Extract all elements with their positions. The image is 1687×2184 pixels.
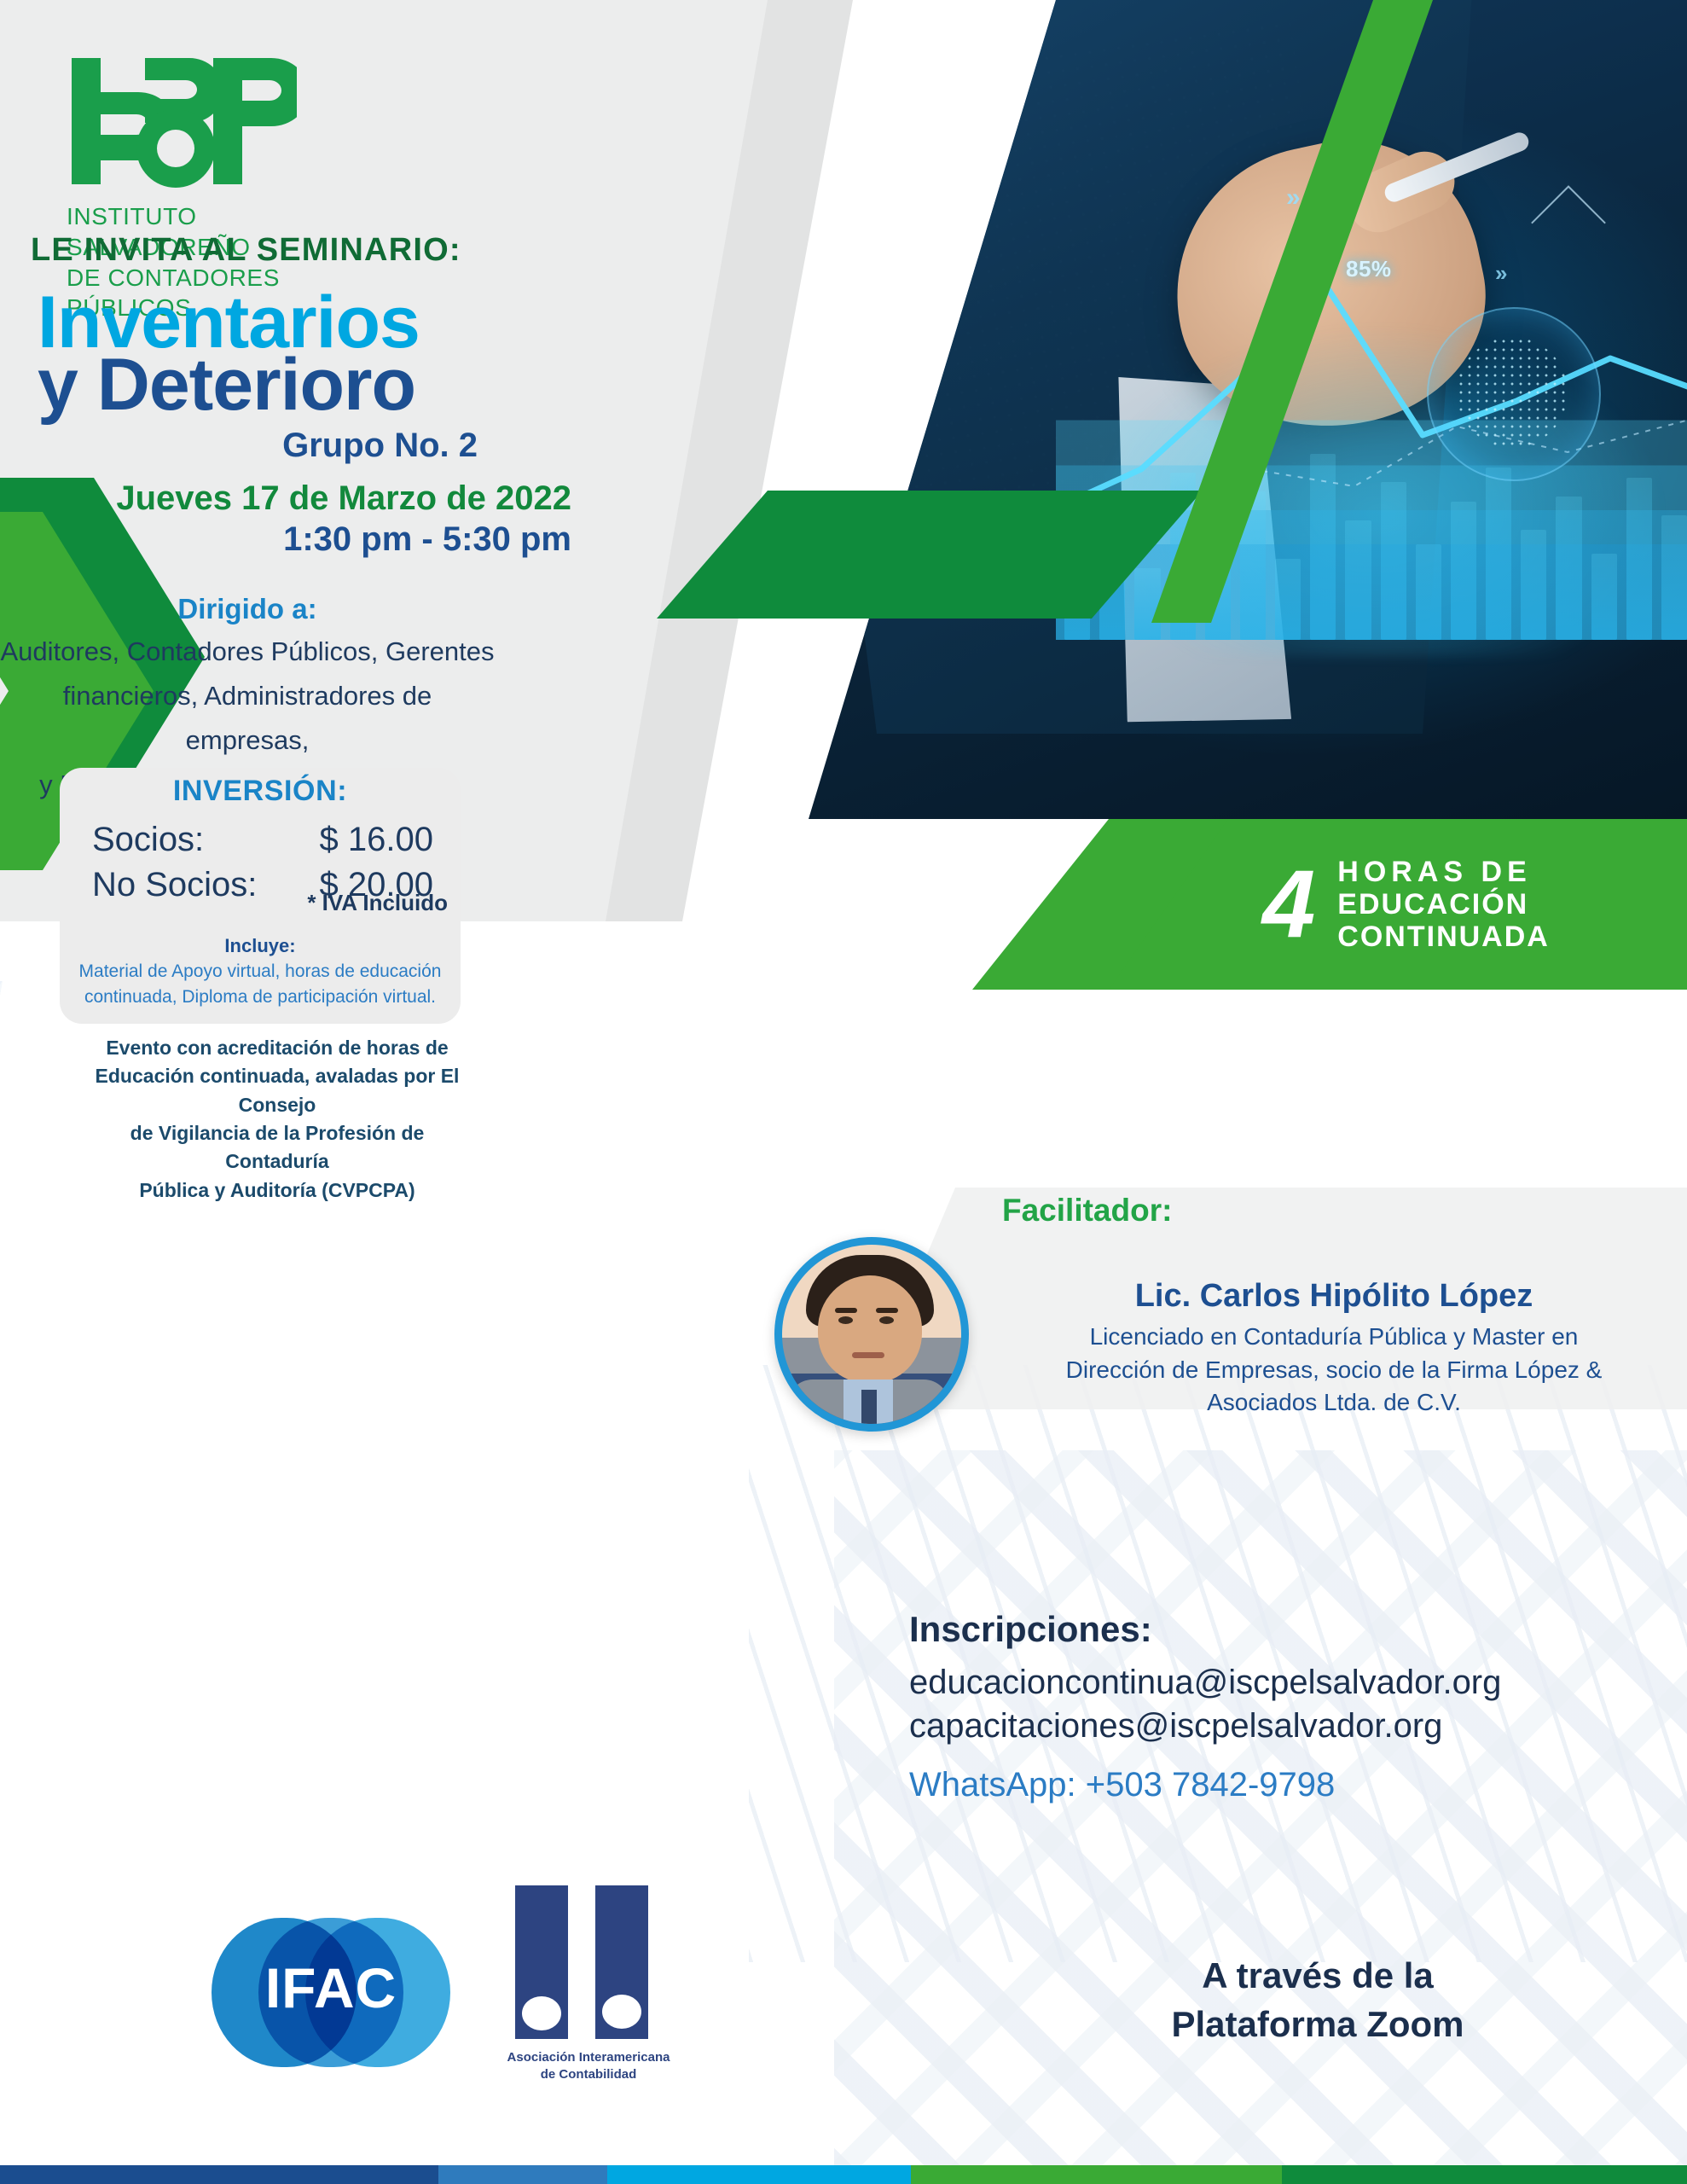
investment-tax-note: * IVA Incluido — [60, 890, 448, 916]
facilitator-bio: Licenciado en Contaduría Pública y Maste… — [981, 1321, 1687, 1420]
avatar-eyebrow-left — [835, 1308, 857, 1313]
audience-line-1: Auditores, Contadores Públicos, Gerentes — [0, 630, 495, 674]
aic-logo-icon: Asociación Interamericana de Contabilida… — [495, 1885, 682, 2133]
avatar-eye-left — [838, 1316, 853, 1324]
platform-line-1: A través de la — [981, 1952, 1655, 2001]
footer-bar-segment-1 — [0, 2165, 438, 2184]
accreditation-line-2: Educación continuada, avaladas por El Co… — [77, 1062, 478, 1119]
hours-number: 4 — [1262, 863, 1312, 944]
avatar-tie — [861, 1390, 877, 1432]
hours-label-line2: EDUCACIÓN — [1337, 888, 1550, 921]
iscp-logo-icon — [67, 53, 297, 189]
registration-whatsapp[interactable]: WhatsApp: +503 7842-9798 — [909, 1766, 1335, 1804]
event-time: 1:30 pm - 5:30 pm — [0, 520, 571, 559]
facilitator-bio-line2: Dirección de Empresas, socio de la Firma… — [981, 1354, 1687, 1387]
flyer-page: » » 85% 4 HORAS DE EDUCACIÓN CONTINUADA — [0, 0, 1687, 2184]
facilitator-bio-line3: Asociados Ltda. de C.V. — [981, 1386, 1687, 1420]
investment-includes-body: Material de Apoyo virtual, horas de educ… — [72, 959, 448, 1010]
footer-color-bar — [0, 2165, 1687, 2184]
hero-chevron-icon-2: » — [1495, 260, 1504, 287]
hero-arrow-icon — [1531, 185, 1606, 260]
avatar-face — [818, 1275, 922, 1383]
accreditation-line-1: Evento con acreditación de horas de — [77, 1034, 478, 1062]
seminar-title-line2: y Deterioro — [38, 348, 415, 421]
ifac-logo-text: IFAC — [212, 1955, 450, 2020]
investment-includes-line1: Material de Apoyo virtual, horas de educ… — [72, 959, 448, 985]
registration-heading: Inscripciones: — [909, 1609, 1152, 1650]
investment-row-label: Socios: — [92, 817, 204, 863]
aic-caption-line2: de Contabilidad — [478, 2066, 699, 2083]
audience-line-2: financieros, Administradores de empresas… — [0, 674, 495, 763]
aic-dot-1 — [522, 1996, 561, 2030]
ifac-logo-icon: IFAC — [212, 1918, 450, 2067]
hours-label-line3: CONTINUADA — [1337, 921, 1550, 953]
aic-logo-caption: Asociación Interamericana de Contabilida… — [478, 2049, 699, 2084]
investment-heading: INVERSIÓN: — [60, 775, 461, 808]
footer-bar-segment-3 — [607, 2165, 911, 2184]
background-diamond-pattern — [834, 1450, 1687, 2184]
aic-caption-line1: Asociación Interamericana — [478, 2049, 699, 2066]
hours-label: HORAS DE EDUCACIÓN CONTINUADA — [1337, 856, 1550, 953]
registration-emails: educacioncontinua@iscpelsalvador.org cap… — [909, 1661, 1501, 1748]
invitation-kicker: LE INVITA AL SEMINARIO: — [31, 232, 461, 269]
avatar-mouth — [852, 1352, 884, 1358]
facilitator-bio-line1: Licenciado en Contaduría Pública y Maste… — [981, 1321, 1687, 1354]
registration-email-1[interactable]: educacioncontinua@iscpelsalvador.org — [909, 1661, 1501, 1705]
avatar-eye-right — [879, 1316, 894, 1324]
footer-bar-segment-4 — [911, 2165, 1282, 2184]
platform-note: A través de la Plataforma Zoom — [981, 1952, 1655, 2048]
accreditation-note: Evento con acreditación de horas de Educ… — [77, 1034, 478, 1205]
aic-dot-2 — [602, 1995, 641, 2029]
audience-heading: Dirigido a: — [0, 593, 495, 625]
hero-sphere-icon — [1457, 337, 1568, 448]
group-label: Grupo No. 2 — [0, 427, 478, 465]
footer-bar-segment-5 — [1282, 2165, 1687, 2184]
avatar-eyebrow-right — [876, 1308, 898, 1313]
facilitator-avatar — [774, 1237, 969, 1432]
hero-chevron-icon: » — [1286, 183, 1297, 212]
hero-stat-label: 85% — [1346, 256, 1392, 282]
investment-includes-line2: continuada, Diploma de participación vir… — [72, 985, 448, 1010]
facilitator-name: Lic. Carlos Hipólito López — [981, 1278, 1687, 1315]
accreditation-line-3: de Vigilancia de la Profesión de Contadu… — [77, 1119, 478, 1176]
hours-label-line1: HORAS DE — [1337, 856, 1550, 888]
investment-row: Socios: $ 16.00 — [92, 817, 433, 863]
platform-line-2: Plataforma Zoom — [981, 2001, 1655, 2049]
event-date: Jueves 17 de Marzo de 2022 — [0, 479, 571, 518]
facilitator-heading: Facilitador: — [1002, 1193, 1172, 1228]
investment-row-amount: $ 16.00 — [320, 817, 433, 863]
investment-includes-heading: Incluye: — [60, 935, 461, 957]
footer-bar-segment-2 — [438, 2165, 607, 2184]
accreditation-line-4: Pública y Auditoría (CVPCPA) — [77, 1176, 478, 1205]
registration-email-2[interactable]: capacitaciones@iscpelsalvador.org — [909, 1705, 1501, 1748]
